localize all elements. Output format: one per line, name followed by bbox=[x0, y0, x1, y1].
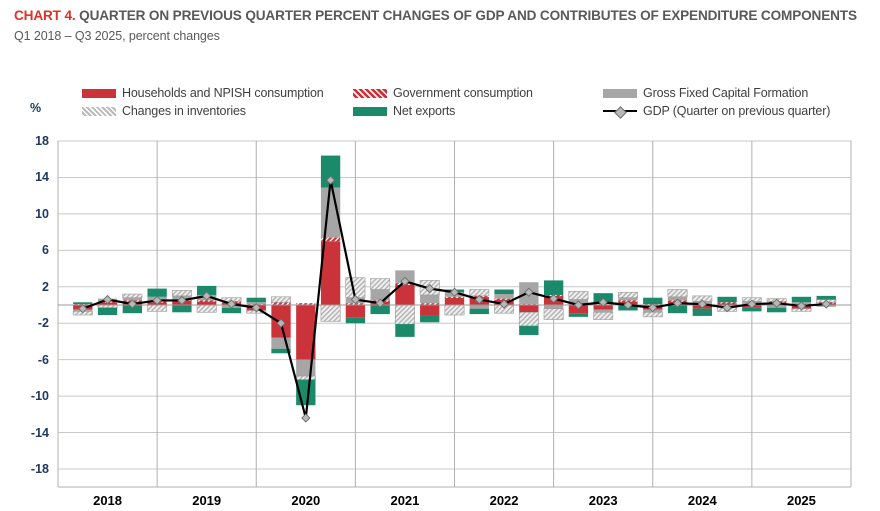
bar-segment bbox=[519, 326, 538, 335]
y-axis-tick-label: 18 bbox=[5, 134, 49, 148]
bar-segment bbox=[544, 309, 563, 320]
bar-segment bbox=[569, 291, 588, 299]
chart-plot-area: 18141062-2-6-10-14-18 201820192020202120… bbox=[0, 0, 880, 511]
x-axis-tick-label: 2025 bbox=[787, 493, 816, 508]
bar-segment bbox=[123, 294, 142, 298]
bar-segment bbox=[445, 297, 464, 298]
y-axis-tick-label: -2 bbox=[5, 316, 49, 330]
bar-segment bbox=[197, 300, 216, 301]
bar-segment bbox=[470, 305, 489, 309]
bar-segment bbox=[346, 305, 365, 318]
bar-segment bbox=[494, 290, 513, 295]
bar-segment bbox=[271, 297, 290, 302]
bar-segment bbox=[817, 296, 836, 300]
bar-segment bbox=[494, 294, 513, 299]
bar-segment bbox=[544, 280, 563, 295]
bar-segment bbox=[420, 295, 439, 303]
bar-segment bbox=[420, 305, 439, 316]
bar-segment bbox=[717, 297, 736, 302]
bar-segment bbox=[296, 376, 315, 380]
bar-segment bbox=[618, 292, 637, 297]
bar-segment bbox=[395, 305, 414, 324]
bar-segment bbox=[470, 309, 489, 314]
bar-segment bbox=[197, 305, 216, 312]
y-axis-tick-label: 14 bbox=[5, 170, 49, 184]
bar-segment bbox=[767, 308, 786, 313]
bar-segment bbox=[147, 305, 166, 311]
bar-segment bbox=[147, 289, 166, 297]
bar-segment bbox=[420, 316, 439, 322]
y-axis-tick-label: 2 bbox=[5, 280, 49, 294]
bar-segment bbox=[594, 310, 613, 313]
bar-segment bbox=[73, 302, 92, 304]
bar-segment bbox=[197, 301, 216, 305]
bar-segment bbox=[693, 309, 712, 316]
bar-segment bbox=[98, 308, 117, 315]
y-axis-tick-label: 6 bbox=[5, 243, 49, 257]
bar-segment bbox=[445, 298, 464, 305]
bar-segment bbox=[569, 313, 588, 317]
y-axis-tick-label: -6 bbox=[5, 353, 49, 367]
x-axis-tick-label: 2023 bbox=[589, 493, 618, 508]
x-axis-tick-label: 2021 bbox=[390, 493, 419, 508]
bar-segment bbox=[519, 312, 538, 326]
bar-segment bbox=[395, 324, 414, 337]
x-axis-tick-label: 2022 bbox=[490, 493, 519, 508]
bar-segment bbox=[445, 305, 464, 315]
chart-canvas bbox=[0, 0, 880, 511]
bar-segment bbox=[346, 318, 365, 323]
bar-segment bbox=[519, 305, 538, 312]
y-axis-tick-label: 10 bbox=[5, 207, 49, 221]
bar-segment bbox=[321, 305, 340, 321]
y-axis-tick-label: -10 bbox=[5, 389, 49, 403]
x-axis-tick-label: 2019 bbox=[192, 493, 221, 508]
bar-segment bbox=[643, 312, 662, 317]
bar-segment bbox=[618, 298, 637, 301]
bar-segment bbox=[247, 298, 266, 303]
bar-segment bbox=[594, 312, 613, 319]
x-axis-tick-label: 2018 bbox=[93, 493, 122, 508]
y-axis-tick-label: -18 bbox=[5, 462, 49, 476]
x-axis-tick-label: 2024 bbox=[688, 493, 717, 508]
bar-segment bbox=[668, 290, 687, 297]
bar-segment bbox=[370, 279, 389, 290]
y-axis-tick-label: -14 bbox=[5, 426, 49, 440]
x-axis-tick-label: 2020 bbox=[291, 493, 320, 508]
bar-segment bbox=[172, 305, 191, 312]
bar-segment bbox=[544, 305, 563, 309]
bar-segment bbox=[172, 290, 191, 295]
